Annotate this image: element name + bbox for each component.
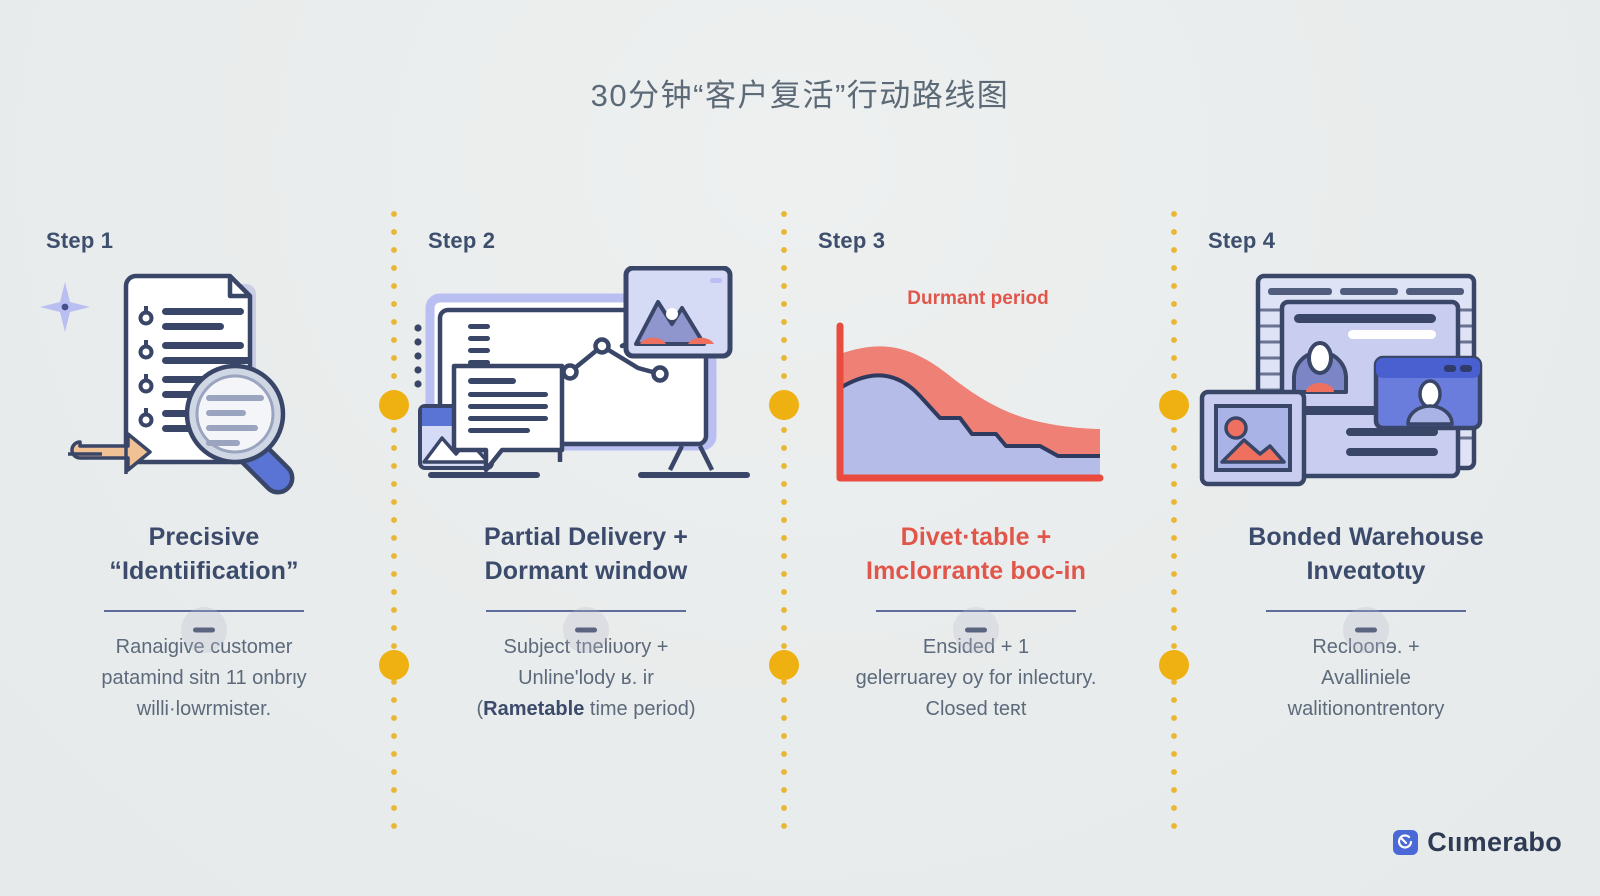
- cumerabo-mark-icon: [1393, 830, 1418, 855]
- step-body-line: willi·lowrmister.: [28, 694, 380, 725]
- timeline-divider-3: [1170, 210, 1178, 840]
- brand-logo: Cιımerabo: [1393, 827, 1562, 858]
- step-heading: Partial Delivery + Dormant window: [410, 520, 762, 588]
- step-1-illustration: [28, 266, 380, 498]
- sparkle-icon: [40, 282, 90, 332]
- heading-divider: [410, 592, 762, 626]
- mountain-thumbnail-icon: [626, 268, 730, 356]
- timeline-node: [1159, 390, 1189, 420]
- timeline-node: [379, 650, 409, 680]
- step-heading-line: Divet·table +: [800, 520, 1152, 554]
- step-column-3: Step 3 Durmant period Divet·table + Imcl…: [800, 228, 1152, 726]
- heading-divider: [28, 592, 380, 626]
- step-body-line: Closed teʀt: [800, 694, 1152, 725]
- chart-annotation-label: Durmant period: [907, 288, 1048, 309]
- step-body-line: Unline'lody ʁ. ir: [410, 663, 762, 694]
- user-panel-icon: [1376, 358, 1480, 428]
- magnifier-icon: [187, 366, 292, 492]
- infographic-canvas: 30分钟“客户复活”行动路线图 Step 1: [0, 0, 1600, 896]
- divider-knob: [953, 607, 999, 653]
- step-heading: Bonded Warehouse Inveɑtotɩy: [1190, 520, 1542, 588]
- step-body-line: Avalliniele: [1190, 663, 1542, 694]
- timeline-dots: [1170, 210, 1178, 840]
- timeline-node: [769, 650, 799, 680]
- step-heading-line: Dormant window: [410, 554, 762, 588]
- step-label: Step 1: [28, 228, 380, 254]
- document-magnifier-illustration: [28, 266, 380, 498]
- step-column-4: Step 4: [1190, 228, 1542, 726]
- step-3-illustration: Durmant period: [800, 266, 1152, 498]
- dormant-period-area-chart: Durmant period: [800, 266, 1152, 498]
- heading-divider: [800, 592, 1152, 626]
- step-heading-line: Inveɑtotɩy: [1190, 554, 1542, 588]
- step-heading: Divet·table + Imclorrante boc-in: [800, 520, 1152, 588]
- step-label: Step 2: [410, 228, 762, 254]
- monitor-line-chart-illustration: [410, 266, 762, 498]
- step-2-illustration: [410, 266, 762, 498]
- step-body-line: gelerruarey oy for inlectury.: [800, 663, 1152, 694]
- heading-divider: [1190, 592, 1542, 626]
- brand-wordmark: Cιımerabo: [1427, 827, 1562, 858]
- step-heading-line: “Identiification”: [28, 554, 380, 588]
- menu-dots-icon: [414, 324, 421, 387]
- step-heading-line: Partial Delivery +: [410, 520, 762, 554]
- paren-close: time period): [584, 698, 695, 720]
- timeline-node: [379, 390, 409, 420]
- step-label: Step 3: [800, 228, 1152, 254]
- timeline-dots: [390, 210, 398, 840]
- timeline-node: [769, 390, 799, 420]
- timeline-divider-2: [780, 210, 788, 840]
- step-heading-line: Bonded Warehouse: [1190, 520, 1542, 554]
- timeline-dots: [780, 210, 788, 840]
- step-column-1: Step 1: [28, 228, 380, 726]
- timeline-node: [1159, 650, 1189, 680]
- emphasis-term: Rametable: [483, 698, 584, 720]
- step-body-line: walitionontrentory: [1190, 694, 1542, 725]
- image-thumbnail-icon: [1202, 392, 1304, 484]
- step-4-illustration: [1190, 266, 1542, 498]
- step-label: Step 4: [1190, 228, 1542, 254]
- layered-cards-avatars-illustration: [1190, 266, 1542, 498]
- step-heading: Precisive “Identiification”: [28, 520, 380, 588]
- divider-knob: [1343, 607, 1389, 653]
- step-heading-line: Precisive: [28, 520, 380, 554]
- step-column-2: Step 2: [410, 228, 762, 726]
- divider-knob: [563, 607, 609, 653]
- arrow-hand-icon: [68, 434, 150, 474]
- step-heading-line: Imclorrante boc-in: [800, 554, 1152, 588]
- step-body-line: (Rametable time period): [410, 694, 762, 725]
- page-title: 30分钟“客户复活”行动路线图: [0, 70, 1600, 115]
- divider-knob: [181, 607, 227, 653]
- step-body-line: patamind sitn 11 onbrιy: [28, 663, 380, 694]
- timeline-divider-1: [390, 210, 398, 840]
